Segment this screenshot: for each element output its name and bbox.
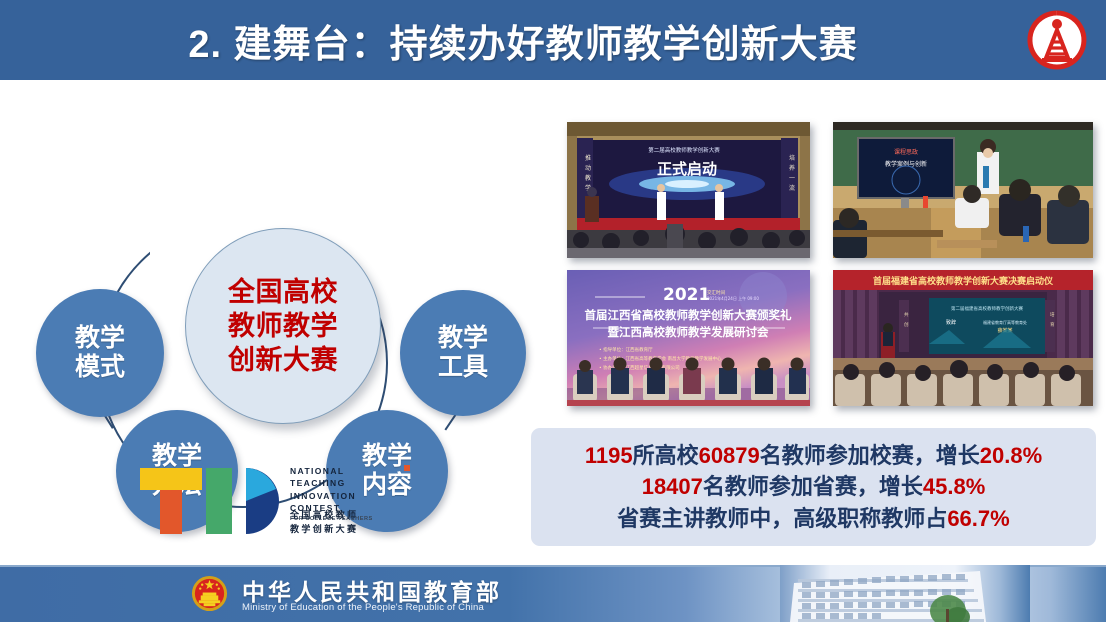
stat1-num1: 1195	[585, 443, 633, 468]
svg-text:• 指导单位：江西省教育厅: • 指导单位：江西省教育厅	[599, 346, 653, 353]
tic-en-line-3: INNOVATION	[290, 490, 405, 502]
diagram-node-teaching-tool[interactable]: 教学 工具	[400, 290, 526, 416]
photo-launch-ceremony[interactable]: 正式启动 第二届高校教师教学创新大赛 推 动 教 学 培 养 一 流	[567, 122, 810, 258]
stat1-text2: 名教师参加校赛，增长	[760, 443, 980, 468]
svg-text:育: 育	[1050, 321, 1055, 328]
svg-text:暨江西高校教师教学发展研讨会: 暨江西高校教师教学发展研讨会	[608, 325, 769, 339]
svg-text:第二届福建省高校教师教学创新大赛: 第二届福建省高校教师教学创新大赛	[951, 305, 1023, 312]
moe-red-circle-logo-icon	[1025, 8, 1089, 72]
stat2-num1: 18407	[642, 474, 703, 499]
svg-text:首届福建省高校教师教学创新大赛决赛启动仪: 首届福建省高校教师教学创新大赛决赛启动仪	[873, 275, 1054, 287]
slide-header: 2. 建舞台：持续办好教师教学创新大赛	[0, 0, 1106, 80]
slide-root: 2. 建舞台：持续办好教师教学创新大赛 全国高校 教师教学 创新大赛 教学 模式	[0, 0, 1106, 622]
photo-classroom-lecture[interactable]: 课程思政 教学案例与创新	[833, 122, 1093, 258]
national-emblem-icon	[190, 574, 229, 613]
tic-en-line-1: NATIONAL	[290, 465, 405, 477]
diagram-node-teaching-mode[interactable]: 教学 模式	[36, 289, 164, 417]
photo-classroom-lecture-image: 课程思政 教学案例与创新	[833, 122, 1093, 258]
tic-cn-line-1: 全国高校教师	[290, 509, 408, 523]
stat1-text1: 所高校	[633, 443, 699, 468]
page-title: 2. 建舞台：持续办好教师教学创新大赛	[0, 0, 1106, 80]
svg-text:正式启动: 正式启动	[657, 160, 717, 178]
center-line-3: 创新大赛	[228, 343, 338, 377]
svg-text:培: 培	[1050, 311, 1055, 318]
svg-text:2021: 2021	[663, 285, 710, 305]
svg-text:动: 动	[585, 165, 591, 172]
photo-fujian-final-image: 首届福建省高校教师教学创新大赛决赛启动仪 第二届福建省高校教师教学创新大赛 致辞…	[833, 270, 1093, 406]
tic-chinese-text: 全国高校教师 教学创新大赛	[290, 509, 408, 536]
svg-text:首届江西省高校教师教学创新大赛颁奖礼: 首届江西省高校教师教学创新大赛颁奖礼	[585, 308, 792, 322]
diagram-center-node[interactable]: 全国高校 教师教学 创新大赛	[185, 228, 381, 424]
svg-text:教: 教	[585, 174, 591, 182]
svg-text:创: 创	[904, 321, 909, 328]
ministry-building-photo	[780, 565, 1030, 622]
stat2-text1: 名教师参加省赛，增长	[703, 474, 923, 499]
stat2-num2: 45.8%	[923, 474, 985, 499]
stat1-num3: 20.8%	[980, 443, 1042, 468]
tic-en-line-2: TEACHING	[290, 477, 405, 489]
node-tool-line-2: 工具	[438, 353, 488, 382]
svg-text:一: 一	[789, 175, 795, 182]
stat-line-3: 省赛主讲教师中，高级职称教师占66.7%	[617, 503, 1009, 534]
concept-diagram: 全国高校 教师教学 创新大赛 教学 模式 教学 方法 教学 内容 教学 工具	[10, 92, 550, 442]
ministry-building-image	[780, 565, 1030, 622]
svg-text:课程思政: 课程思政	[894, 148, 918, 156]
svg-text:培: 培	[789, 154, 795, 162]
svg-text:教学案例与创新: 教学案例与创新	[885, 160, 927, 168]
stat3-num1: 66.7%	[947, 506, 1009, 531]
center-line-2: 教师教学	[228, 309, 338, 343]
svg-text:交汇时间: 交汇时间	[707, 289, 725, 296]
stat-line-1: 1195所高校60879名教师参加校赛，增长20.8%	[585, 440, 1042, 471]
svg-text:共: 共	[904, 311, 909, 318]
svg-text:第二届高校教师教学创新大赛: 第二届高校教师教学创新大赛	[648, 146, 720, 154]
photo-launch-ceremony-image: 正式启动 第二届高校教师教学创新大赛 推 动 教 学 培 养 一 流	[567, 122, 810, 258]
stat1-num2: 60879	[699, 443, 760, 468]
svg-text:推: 推	[585, 154, 591, 162]
node-mode-line-1: 教学	[75, 324, 125, 353]
svg-text:养: 养	[789, 164, 795, 172]
photo-jiangxi-award-image: 2021 交汇时间 2021年4月24日 上午 09:00 首届江西省高校教师教…	[567, 270, 810, 406]
stat3-text1: 省赛主讲教师中，高级职称教师占	[617, 506, 947, 531]
photo-jiangxi-award-ceremony[interactable]: 2021 交汇时间 2021年4月24日 上午 09:00 首届江西省高校教师教…	[567, 270, 810, 406]
slide-footer: 中华人民共和国教育部 Ministry of Education of the …	[0, 565, 1106, 622]
statistics-box: 1195所高校60879名教师参加校赛，增长20.8% 18407名教师参加省赛…	[531, 428, 1096, 546]
photo-fujian-final-launch[interactable]: 首届福建省高校教师教学创新大赛决赛启动仪 第二届福建省高校教师教学创新大赛 致辞…	[833, 270, 1093, 406]
svg-text:福建省教育厅高等教育处: 福建省教育厅高等教育处	[983, 319, 1027, 325]
photo-grid: 正式启动 第二届高校教师教学创新大赛 推 动 教 学 培 养 一 流	[560, 112, 1100, 412]
tic-contest-logo: NATIONAL TEACHING INNOVATION CONTEST FOR…	[138, 460, 403, 540]
stat-line-2: 18407名教师参加省赛，增长45.8%	[642, 471, 986, 502]
footer-title-en: Ministry of Education of the People's Re…	[242, 602, 484, 613]
node-tool-line-1: 教学	[438, 324, 488, 353]
center-line-1: 全国高校	[228, 275, 338, 309]
node-mode-line-2: 模式	[75, 353, 125, 382]
svg-text:2021年4月24日 上午 09:00: 2021年4月24日 上午 09:00	[707, 295, 759, 301]
svg-text:致辞: 致辞	[946, 319, 956, 326]
tic-logo-mark-icon	[138, 460, 288, 540]
tic-cn-line-2: 教学创新大赛	[290, 523, 408, 537]
svg-text:流: 流	[789, 184, 795, 192]
